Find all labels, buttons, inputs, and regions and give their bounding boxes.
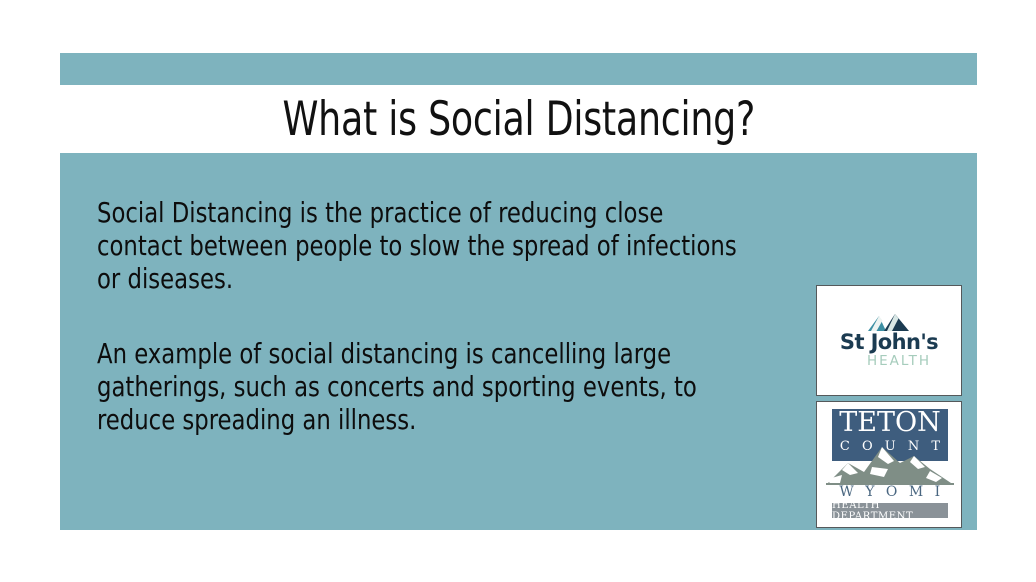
teton-county-logo-box: TETON C O U N T Y bbox=[816, 401, 962, 528]
st-johns-name: St John's bbox=[840, 332, 938, 353]
mountain-peaks-icon bbox=[868, 314, 912, 331]
st-johns-health-logo: St John's HEALTH bbox=[817, 286, 961, 395]
paragraph-1: Social Distancing is the practice of red… bbox=[97, 197, 741, 296]
logo-stack: St John's HEALTH TETON C O U N T Y bbox=[816, 285, 962, 528]
body-text-block: Social Distancing is the practice of red… bbox=[97, 197, 797, 437]
top-accent-bar bbox=[60, 53, 977, 85]
slide-canvas: What is Social Distancing? Social Distan… bbox=[0, 0, 1036, 582]
page-title: What is Social Distancing? bbox=[282, 96, 755, 143]
body-panel: Social Distancing is the practice of red… bbox=[60, 153, 977, 530]
teton-mountain-range-icon bbox=[826, 439, 954, 485]
paragraph-2: An example of social distancing is cance… bbox=[97, 338, 741, 437]
st-johns-subtitle: HEALTH bbox=[867, 354, 931, 368]
st-johns-health-logo-box: St John's HEALTH bbox=[816, 285, 962, 396]
teton-wordmark: TETON bbox=[832, 408, 948, 438]
teton-health-department-label: HEALTH DEPARTMENT bbox=[832, 500, 948, 522]
teton-county-logo: TETON C O U N T Y bbox=[826, 409, 954, 521]
teton-health-department-bar: HEALTH DEPARTMENT bbox=[832, 503, 948, 518]
title-band: What is Social Distancing? bbox=[60, 85, 977, 153]
